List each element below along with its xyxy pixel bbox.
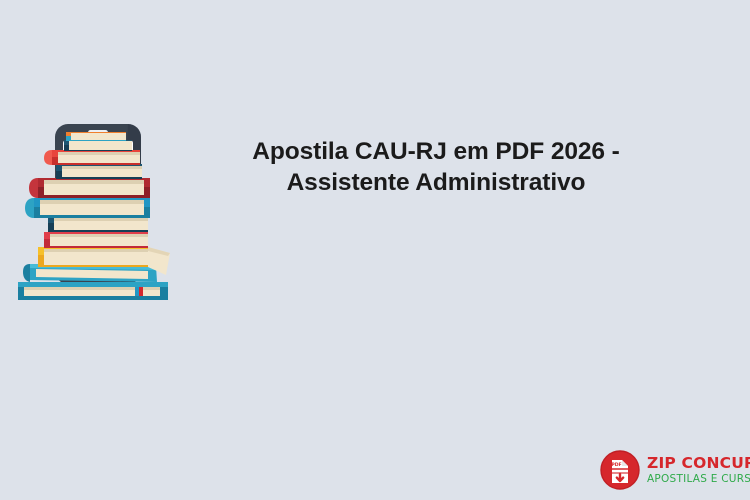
book-navy-upper xyxy=(56,164,142,179)
book-base-teal xyxy=(18,282,168,300)
logo-tagline: APOSTILAS E CURSOS xyxy=(647,474,750,485)
book-darkred-thick xyxy=(29,178,150,198)
logo-brand-name: ZIP CONCURSOS xyxy=(647,456,750,472)
brand-logo[interactable]: PDF ZIP CONCURSOS APOSTILAS E CURSOS xyxy=(600,450,750,490)
book-red-upper xyxy=(44,150,140,165)
logo-wordmark: ZIP CONCURSOS APOSTILAS E CURSOS xyxy=(647,456,750,485)
book-top-orange xyxy=(66,132,126,141)
book-blue-thick xyxy=(25,198,150,218)
promo-banner: Apostila CAU-RJ em PDF 2026 - Assistente… xyxy=(0,0,750,500)
title-block: Apostila CAU-RJ em PDF 2026 - Assistente… xyxy=(190,136,682,198)
book-navy-mid xyxy=(48,216,148,232)
book-crimson xyxy=(44,232,148,248)
page-title: Apostila CAU-RJ em PDF 2026 - Assistente… xyxy=(190,136,682,198)
pdf-download-icon: PDF xyxy=(600,450,640,490)
book-top-navy xyxy=(64,140,132,151)
stack-of-books-illustration xyxy=(8,112,193,312)
svg-text:PDF: PDF xyxy=(611,462,621,468)
